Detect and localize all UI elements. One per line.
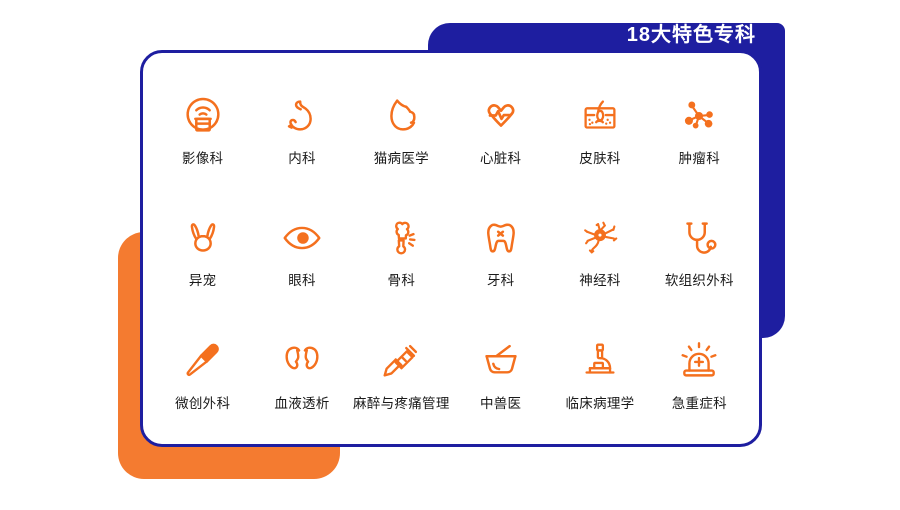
departments-grid: 影像科 内科: [153, 67, 749, 434]
department-item-7[interactable]: 眼科: [252, 189, 351, 311]
department-label: 急重症科: [672, 392, 727, 412]
department-label: 神经科: [579, 269, 620, 289]
department-item-13[interactable]: 血液透析: [252, 312, 351, 434]
department-label: 微创外科: [175, 392, 230, 412]
department-item-5[interactable]: 肿瘤科: [650, 67, 749, 189]
poster-canvas: 18大特色专科 影像科: [0, 0, 900, 510]
department-label: 肿瘤科: [679, 147, 720, 167]
department-item-6[interactable]: 异宠: [153, 189, 252, 311]
department-item-3[interactable]: 心脏科: [451, 67, 550, 189]
department-item-10[interactable]: 神经科: [550, 189, 649, 311]
department-label: 影像科: [182, 147, 223, 167]
department-item-1[interactable]: 内科: [252, 67, 351, 189]
department-label: 眼科: [288, 269, 316, 289]
department-item-14[interactable]: 麻醉与疼痛管理: [352, 312, 451, 434]
department-label: 软组织外科: [665, 269, 734, 289]
department-item-0[interactable]: 影像科: [153, 67, 252, 189]
department-label: 临床病理学: [565, 392, 634, 412]
cat-head-icon: [374, 89, 428, 143]
neuron-icon: [573, 211, 627, 265]
department-label: 内科: [288, 147, 316, 167]
heart-pulse-icon: [474, 89, 528, 143]
tumor-cells-icon: [672, 89, 726, 143]
eye-icon: [275, 211, 329, 265]
department-item-9[interactable]: 牙科: [451, 189, 550, 311]
bone-joint-icon: [374, 211, 428, 265]
department-label: 血液透析: [274, 392, 329, 412]
department-label: 中兽医: [480, 392, 521, 412]
rabbit-head-icon: [176, 211, 230, 265]
department-item-15[interactable]: 中兽医: [451, 312, 550, 434]
tooth-icon: [474, 211, 528, 265]
stethoscope-icon: [672, 211, 726, 265]
department-label: 骨科: [388, 269, 416, 289]
department-label: 猫病医学: [374, 147, 429, 167]
scalpel-icon: [176, 334, 230, 388]
departments-card: 影像科 内科: [140, 50, 762, 447]
department-label: 异宠: [189, 269, 217, 289]
department-item-8[interactable]: 骨科: [352, 189, 451, 311]
department-item-11[interactable]: 软组织外科: [650, 189, 749, 311]
department-label: 皮肤科: [579, 147, 620, 167]
syringe-icon: [374, 334, 428, 388]
banner-title: 18大特色专科: [627, 22, 756, 48]
department-label: 牙科: [487, 269, 515, 289]
emergency-siren-icon: [672, 334, 726, 388]
department-item-16[interactable]: 临床病理学: [550, 312, 649, 434]
microscope-icon: [573, 334, 627, 388]
department-label: 心脏科: [480, 147, 521, 167]
department-item-17[interactable]: 急重症科: [650, 312, 749, 434]
department-item-12[interactable]: 微创外科: [153, 312, 252, 434]
kidneys-icon: [275, 334, 329, 388]
department-label: 麻醉与疼痛管理: [353, 392, 450, 412]
ct-scanner-icon: [176, 89, 230, 143]
department-item-2[interactable]: 猫病医学: [352, 67, 451, 189]
stomach-icon: [275, 89, 329, 143]
skin-follicle-icon: [573, 89, 627, 143]
mortar-pestle-icon: [474, 334, 528, 388]
department-item-4[interactable]: 皮肤科: [550, 67, 649, 189]
